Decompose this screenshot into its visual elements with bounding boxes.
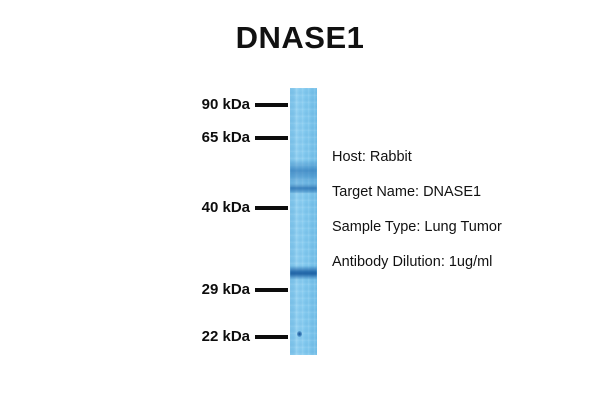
annotation-host: Host: Rabbit bbox=[332, 140, 582, 175]
annotation-block: Host: Rabbit Target Name: DNASE1 Sample … bbox=[332, 140, 582, 280]
marker-label-29: 29 kDa bbox=[202, 280, 250, 300]
lane-texture bbox=[290, 88, 317, 355]
marker-tick-40 bbox=[255, 206, 288, 210]
band-sharp-upper bbox=[290, 184, 317, 193]
annotation-target-name: Target Name: DNASE1 bbox=[332, 175, 582, 210]
molecular-weight-ladder: 90 kDa 65 kDa 40 kDa 29 kDa 22 kDa bbox=[0, 0, 292, 400]
marker-label-65: 65 kDa bbox=[202, 128, 250, 148]
annotation-sample-type: Sample Type: Lung Tumor bbox=[332, 210, 582, 245]
marker-tick-65 bbox=[255, 136, 288, 140]
marker-tick-90 bbox=[255, 103, 288, 107]
marker-tick-29 bbox=[255, 288, 288, 292]
band-faint-speck bbox=[297, 331, 302, 337]
band-main bbox=[290, 266, 317, 279]
marker-label-90: 90 kDa bbox=[202, 95, 250, 115]
gel-lane bbox=[290, 88, 317, 355]
marker-label-22: 22 kDa bbox=[202, 327, 250, 347]
band-diffuse-smear-upper bbox=[290, 160, 317, 186]
marker-tick-22 bbox=[255, 335, 288, 339]
western-blot-figure: DNASE1 90 kDa 65 kDa 40 kDa 29 kDa 22 kD… bbox=[0, 0, 600, 400]
annotation-antibody-dilution: Antibody Dilution: 1ug/ml bbox=[332, 245, 582, 280]
marker-label-40: 40 kDa bbox=[202, 198, 250, 218]
